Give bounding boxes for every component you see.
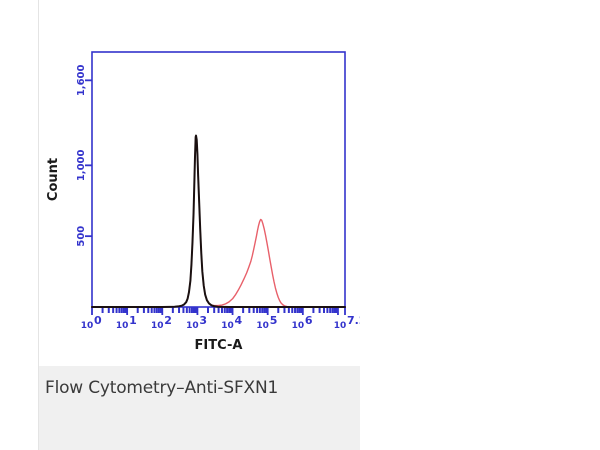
x-tick-mantissa: 10 bbox=[81, 321, 94, 331]
x-tick-mantissa: 10 bbox=[256, 321, 269, 331]
x-tick-exponent: 0 bbox=[94, 314, 102, 327]
x-tick-exponent: 2 bbox=[164, 314, 172, 327]
caption-panel: Flow Cytometry–Anti-SFXN1 bbox=[38, 366, 360, 450]
x-axis-title: FITC-A bbox=[195, 338, 243, 353]
x-tick-mantissa: 10 bbox=[186, 321, 199, 331]
figure-caption-title: Flow Cytometry–Anti-SFXN1 bbox=[45, 378, 278, 398]
y-axis-title: Count bbox=[46, 158, 61, 201]
x-tick-exponent: 3 bbox=[199, 314, 207, 327]
histogram-svg: 5001,0001,600100101102103104105106107.2F… bbox=[39, 0, 361, 366]
flow-cytometry-plot: 5001,0001,600100101102103104105106107.2F… bbox=[39, 0, 361, 366]
x-tick-exponent: 5 bbox=[270, 314, 278, 327]
x-tick-mantissa: 10 bbox=[151, 321, 164, 331]
x-tick-exponent: 7.2 bbox=[347, 314, 361, 327]
y-axis-tick-label: 1,600 bbox=[76, 64, 87, 96]
y-axis-tick-label: 1,000 bbox=[76, 149, 87, 181]
x-tick-exponent: 6 bbox=[305, 314, 313, 327]
x-tick-mantissa: 10 bbox=[116, 321, 129, 331]
left-page-margin bbox=[0, 0, 38, 450]
x-tick-mantissa: 10 bbox=[292, 321, 305, 331]
right-page-margin bbox=[360, 0, 600, 450]
x-tick-exponent: 1 bbox=[129, 314, 137, 327]
x-tick-mantissa: 10 bbox=[334, 321, 347, 331]
x-tick-exponent: 4 bbox=[235, 314, 243, 327]
y-axis-tick-label: 500 bbox=[76, 226, 87, 247]
screenshot-root: 5001,0001,600100101102103104105106107.2F… bbox=[0, 0, 600, 450]
flow-cytometry-figure-card: 5001,0001,600100101102103104105106107.2F… bbox=[38, 0, 360, 366]
x-tick-mantissa: 10 bbox=[221, 321, 234, 331]
